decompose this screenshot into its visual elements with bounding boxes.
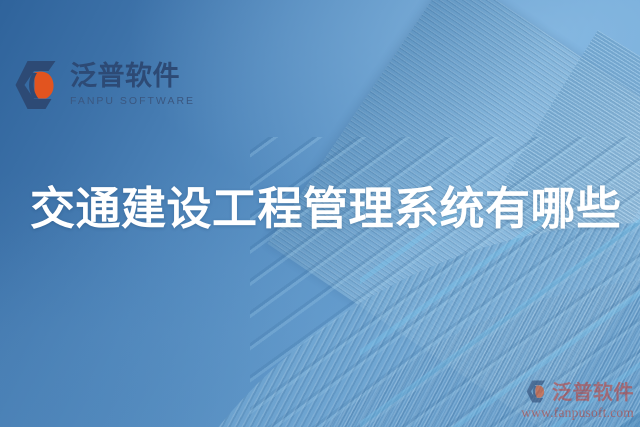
fanpu-hexagon-logo-icon: [526, 380, 548, 403]
watermark-brand-row: 泛普软件: [500, 380, 634, 403]
watermark-brand-name: 泛普软件: [552, 382, 634, 402]
fanpu-hexagon-logo-icon: [14, 60, 62, 110]
brand-logo-text: 泛普软件 FANPU SOFTWARE: [70, 63, 195, 107]
banner-headline: 交通建设工程管理系统有哪些: [30, 172, 622, 237]
watermark-url: www.fanpusoft.com: [500, 405, 634, 421]
brand-name-en: FANPU SOFTWARE: [70, 95, 195, 107]
brand-name-cn: 泛普软件: [70, 63, 195, 91]
site-watermark: 泛普软件 www.fanpusoft.com: [500, 380, 634, 421]
brand-logo: 泛普软件 FANPU SOFTWARE: [14, 60, 195, 110]
promo-banner: 泛普软件 FANPU SOFTWARE 交通建设工程管理系统有哪些 泛普软件 w…: [0, 0, 640, 427]
